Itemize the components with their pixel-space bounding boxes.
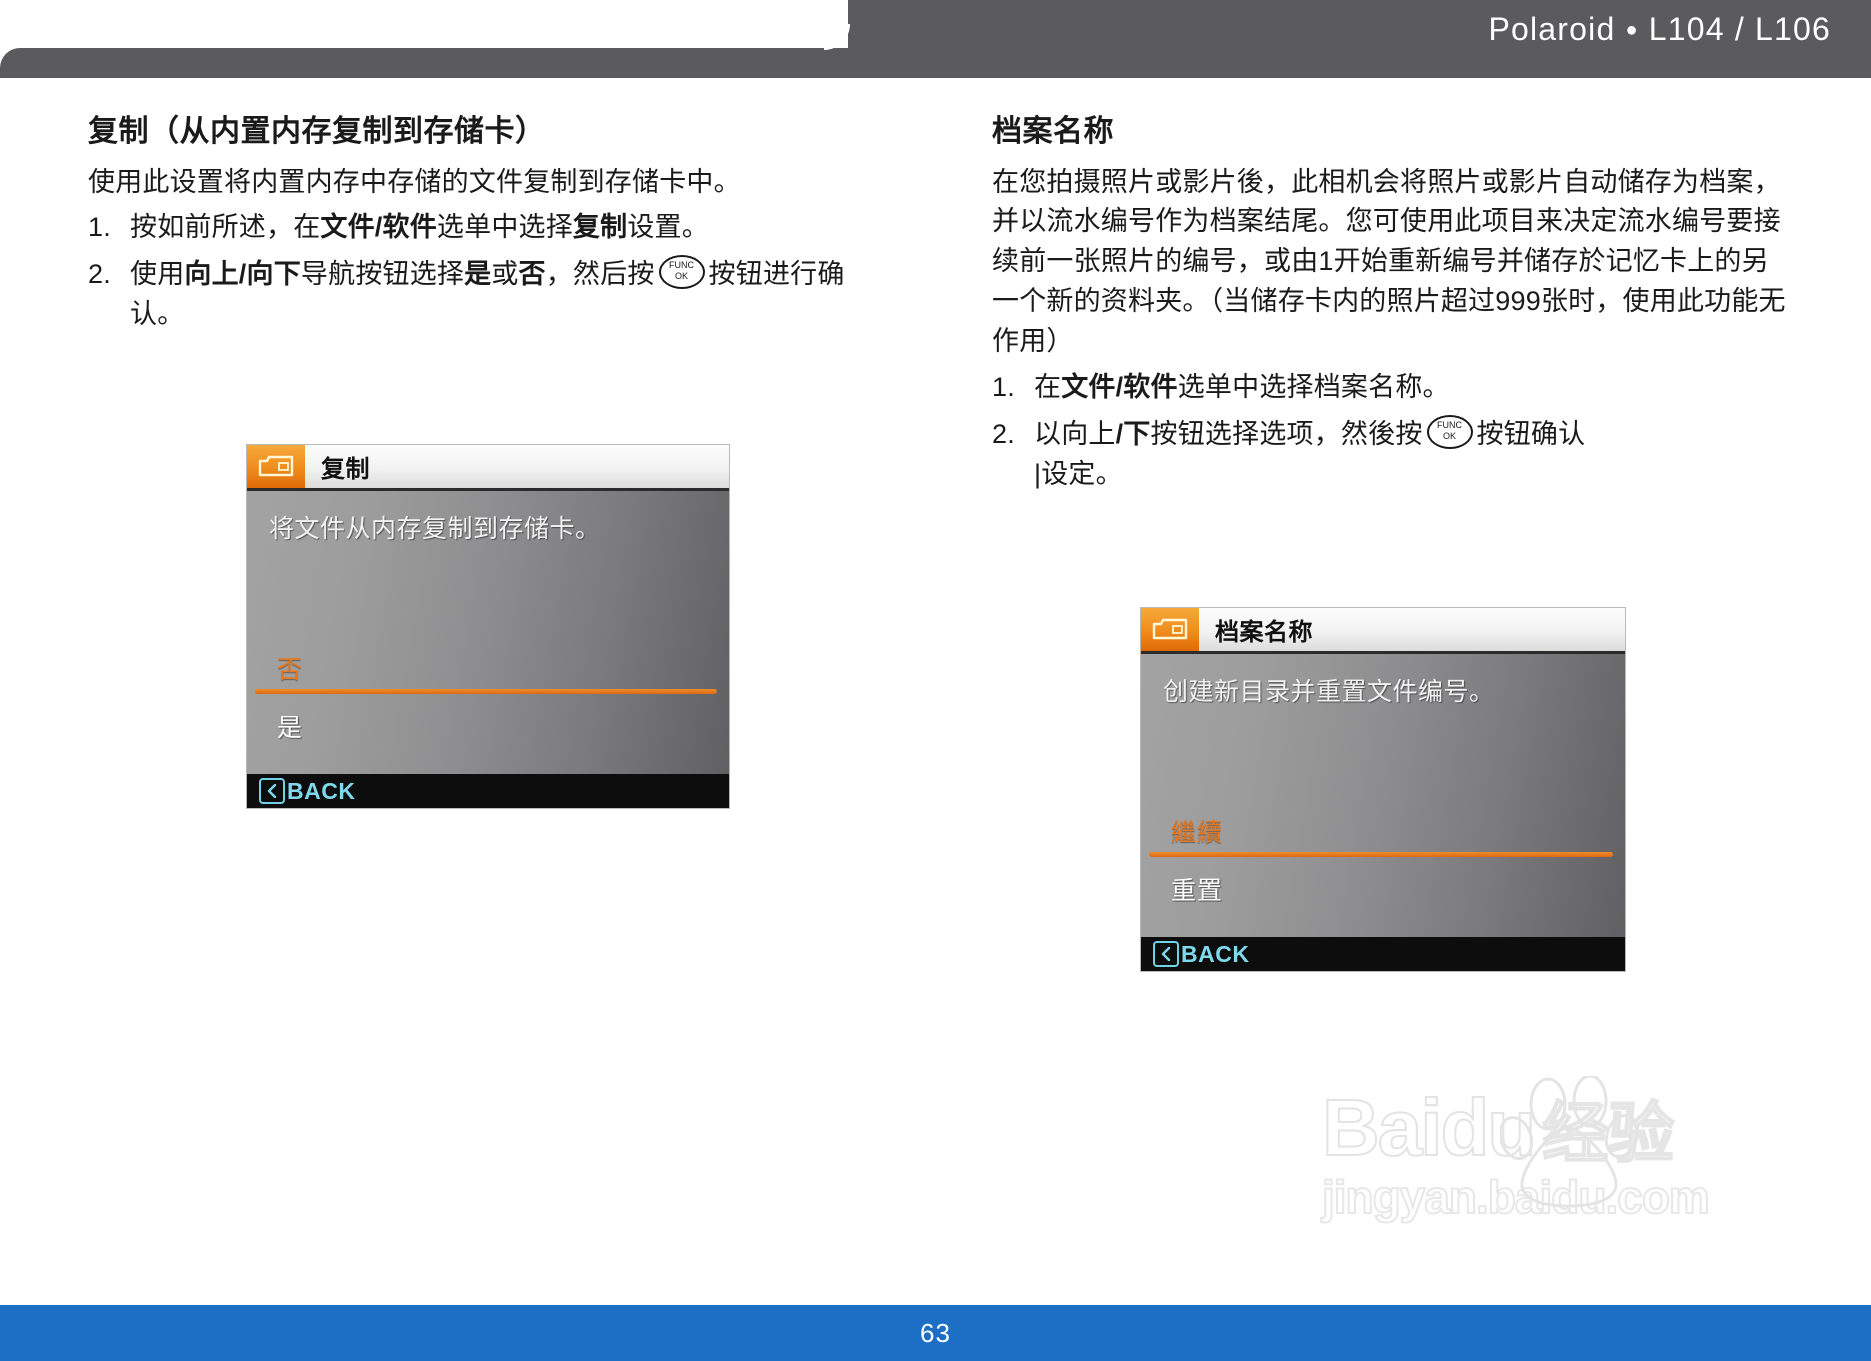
step-number: 1. xyxy=(992,368,1034,408)
camera-screen-copy: 复制 将文件从内存复制到存储卡。 否 是 BACK xyxy=(247,445,729,808)
camera-screen-title: 档案名称 xyxy=(1215,612,1313,647)
back-button-label[interactable]: BACK xyxy=(1181,941,1249,968)
camera-titlebar: 档案名称 xyxy=(1141,608,1625,654)
left-step-list: 1.按如前所述，在文件/软件选单中选择复制设置。2.使用向上/向下导航按钮选择是… xyxy=(88,208,888,335)
memory-card-icon xyxy=(1141,608,1199,651)
plain-text: 选单中选择档案名称。 xyxy=(1178,372,1450,402)
camera-footer: BACK xyxy=(247,774,729,808)
chevron-left-icon[interactable] xyxy=(1153,941,1179,967)
step-number: 2. xyxy=(88,255,130,335)
plain-text: 设置。 xyxy=(627,212,709,242)
baidu-watermark-url: jingyan.baidu.com xyxy=(1322,1170,1792,1224)
baidu-wordmark: Baidu xyxy=(1322,1090,1534,1166)
camera-option-no[interactable]: 否 xyxy=(277,650,303,686)
step-number: 1. xyxy=(88,208,130,248)
plain-text: 导航按钮选择 xyxy=(301,259,464,289)
step-text: 以向上/下按钮选择选项，然後按FUNCOK按钮确认|设定。 xyxy=(1034,415,1792,495)
header-white-notch xyxy=(824,24,850,50)
baidu-logo-row: Baidu 经验 xyxy=(1322,1090,1792,1166)
header-brand-name: Polaroid xyxy=(1488,11,1615,47)
back-button-label[interactable]: BACK xyxy=(287,778,355,805)
memory-card-icon xyxy=(247,445,305,488)
list-item: 2.使用向上/向下导航按钮选择是或否，然后按FUNCOK按钮进行确认。 xyxy=(88,255,888,335)
baidu-watermark: Baidu 经验 jingyan.baidu.com xyxy=(1322,1090,1792,1290)
right-section-heading: 档案名称 xyxy=(992,112,1792,153)
emphasis-text: 是 xyxy=(464,259,491,289)
chevron-left-icon[interactable] xyxy=(259,778,285,804)
camera-selection-divider xyxy=(1149,852,1613,857)
plain-text: 按钮选择选项，然後按 xyxy=(1151,419,1423,449)
emphasis-text: 向上/向下 xyxy=(184,259,301,289)
page-header: Polaroid●L104 / L106 xyxy=(0,0,1871,78)
header-brand-title: Polaroid●L104 / L106 xyxy=(1488,11,1831,48)
list-item: 1.按如前所述，在文件/软件选单中选择复制设置。 xyxy=(88,208,888,248)
header-grey-band xyxy=(0,48,1871,78)
camera-prompt-text: 创建新目录并重置文件编号。 xyxy=(1163,672,1495,708)
list-item: 1.在文件/软件选单中选择档案名称。 xyxy=(992,368,1792,408)
camera-prompt-text: 将文件从内存复制到存储卡。 xyxy=(269,509,601,545)
baidu-paw-icon xyxy=(1500,1076,1650,1216)
plain-text: 以向上 xyxy=(1034,419,1116,449)
page-number: 63 xyxy=(920,1318,951,1349)
camera-option-yes[interactable]: 是 xyxy=(277,708,303,744)
plain-text: 按钮确认 xyxy=(1477,419,1586,449)
camera-option-reset[interactable]: 重置 xyxy=(1171,871,1223,907)
step-text: 在文件/软件选单中选择档案名称。 xyxy=(1034,368,1792,408)
camera-selection-divider xyxy=(255,689,717,694)
plain-text: 按如前所述，在 xyxy=(130,212,320,242)
func-ok-button-icon: FUNCOK xyxy=(1427,415,1473,449)
baidu-jingyan-cn: 经验 xyxy=(1542,1100,1674,1166)
plain-text: |设定。 xyxy=(1034,459,1123,489)
plain-text: 使用 xyxy=(130,259,184,289)
camera-screen-filename: 档案名称 创建新目录并重置文件编号。 繼續 重置 BACK xyxy=(1141,608,1625,971)
emphasis-text: 文件/软件 xyxy=(320,212,437,242)
camera-screen-body: 将文件从内存复制到存储卡。 否 是 xyxy=(247,491,729,774)
list-item: 2.以向上/下按钮选择选项，然後按FUNCOK按钮确认|设定。 xyxy=(992,415,1792,495)
func-ok-button-icon: FUNCOK xyxy=(659,255,705,289)
plain-text: 或 xyxy=(491,259,518,289)
left-column: 复制（从内置内存复制到存储卡） 使用此设置将内置内存中存储的文件复制到存储卡中。… xyxy=(88,112,888,342)
left-section-intro: 使用此设置将内置内存中存储的文件复制到存储卡中。 xyxy=(88,163,888,203)
plain-text: 在 xyxy=(1034,372,1061,402)
page-footer: 63 xyxy=(0,1305,1871,1361)
camera-screen-body: 创建新目录并重置文件编号。 繼續 重置 xyxy=(1141,654,1625,937)
emphasis-text: 复制 xyxy=(573,212,627,242)
right-section-intro: 在您拍摄照片或影片後，此相机会将照片或影片自动储存为档案，并以流水编号作为档案结… xyxy=(992,163,1792,363)
right-column: 档案名称 在您拍摄照片或影片後，此相机会将照片或影片自动储存为档案，并以流水编号… xyxy=(992,112,1792,502)
header-model-names: L104 / L106 xyxy=(1649,11,1831,47)
emphasis-text: 否 xyxy=(519,259,546,289)
camera-option-continue[interactable]: 繼續 xyxy=(1171,813,1223,849)
step-number: 2. xyxy=(992,415,1034,495)
step-text: 使用向上/向下导航按钮选择是或否，然后按FUNCOK按钮进行确认。 xyxy=(130,255,888,335)
camera-footer: BACK xyxy=(1141,937,1625,971)
header-separator-dot: ● xyxy=(1615,19,1648,41)
plain-text: 选单中选择 xyxy=(437,212,573,242)
camera-screen-title: 复制 xyxy=(321,449,370,484)
camera-titlebar: 复制 xyxy=(247,445,729,491)
left-section-heading: 复制（从内置内存复制到存储卡） xyxy=(88,112,888,153)
step-text: 按如前所述，在文件/软件选单中选择复制设置。 xyxy=(130,208,888,248)
emphasis-text: 文件/软件 xyxy=(1061,372,1178,402)
right-step-list: 1.在文件/软件选单中选择档案名称。2.以向上/下按钮选择选项，然後按FUNCO… xyxy=(992,368,1792,495)
emphasis-text: /下 xyxy=(1116,419,1151,449)
plain-text: ，然后按 xyxy=(546,259,655,289)
